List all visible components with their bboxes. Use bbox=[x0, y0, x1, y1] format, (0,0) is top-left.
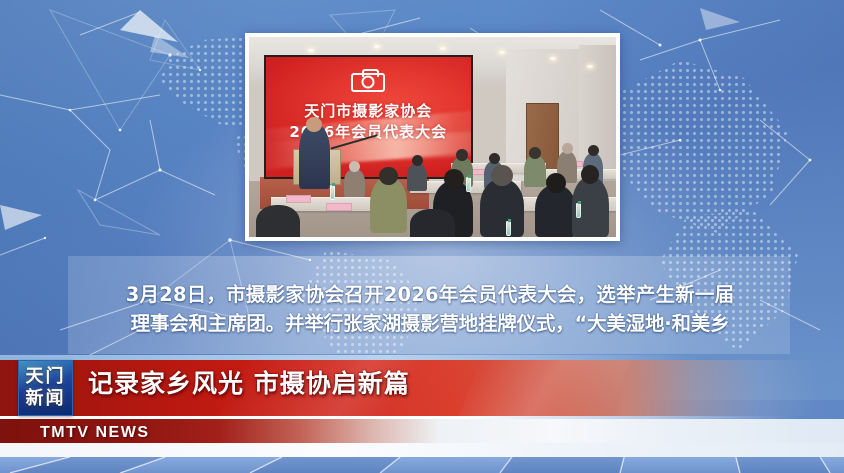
station-id-text: TMTV NEWS bbox=[40, 424, 150, 442]
bottom-grid-floor bbox=[0, 457, 844, 473]
subtitle-line-2: 理事会和主席团。并举行张家湖摄影营地挂牌仪式，“大美湿地·和美乡 bbox=[74, 309, 786, 338]
headline-text: 记录家乡风光 市摄协启新篇 bbox=[88, 364, 410, 400]
news-photo-frame: 天门市摄影家协会 2026年会员代表大会 bbox=[245, 33, 620, 241]
news-photo: 天门市摄影家协会 2026年会员代表大会 bbox=[249, 37, 616, 237]
photo-speaker-head bbox=[306, 117, 322, 132]
subtitle-text: 3月28日，市摄影家协会召开2026年会员代表大会，选举产生新一届 理事会和主席… bbox=[74, 280, 786, 338]
camera-icon bbox=[351, 73, 385, 92]
channel-logo-line-2: 新闻 bbox=[26, 388, 66, 410]
subtitle-line-1: 3月28日，市摄影家协会召开2026年会员代表大会，选举产生新一届 bbox=[74, 280, 786, 309]
station-id-band-lower bbox=[0, 443, 844, 457]
photo-speaker bbox=[299, 125, 330, 189]
floor-grid-lines bbox=[0, 457, 844, 473]
channel-logo-line-1: 天门 bbox=[26, 366, 66, 388]
band-sheen bbox=[459, 360, 632, 416]
led-title-line1: 天门市摄影家协会 bbox=[266, 100, 471, 121]
channel-logo[interactable]: 天门 新闻 bbox=[18, 360, 73, 416]
